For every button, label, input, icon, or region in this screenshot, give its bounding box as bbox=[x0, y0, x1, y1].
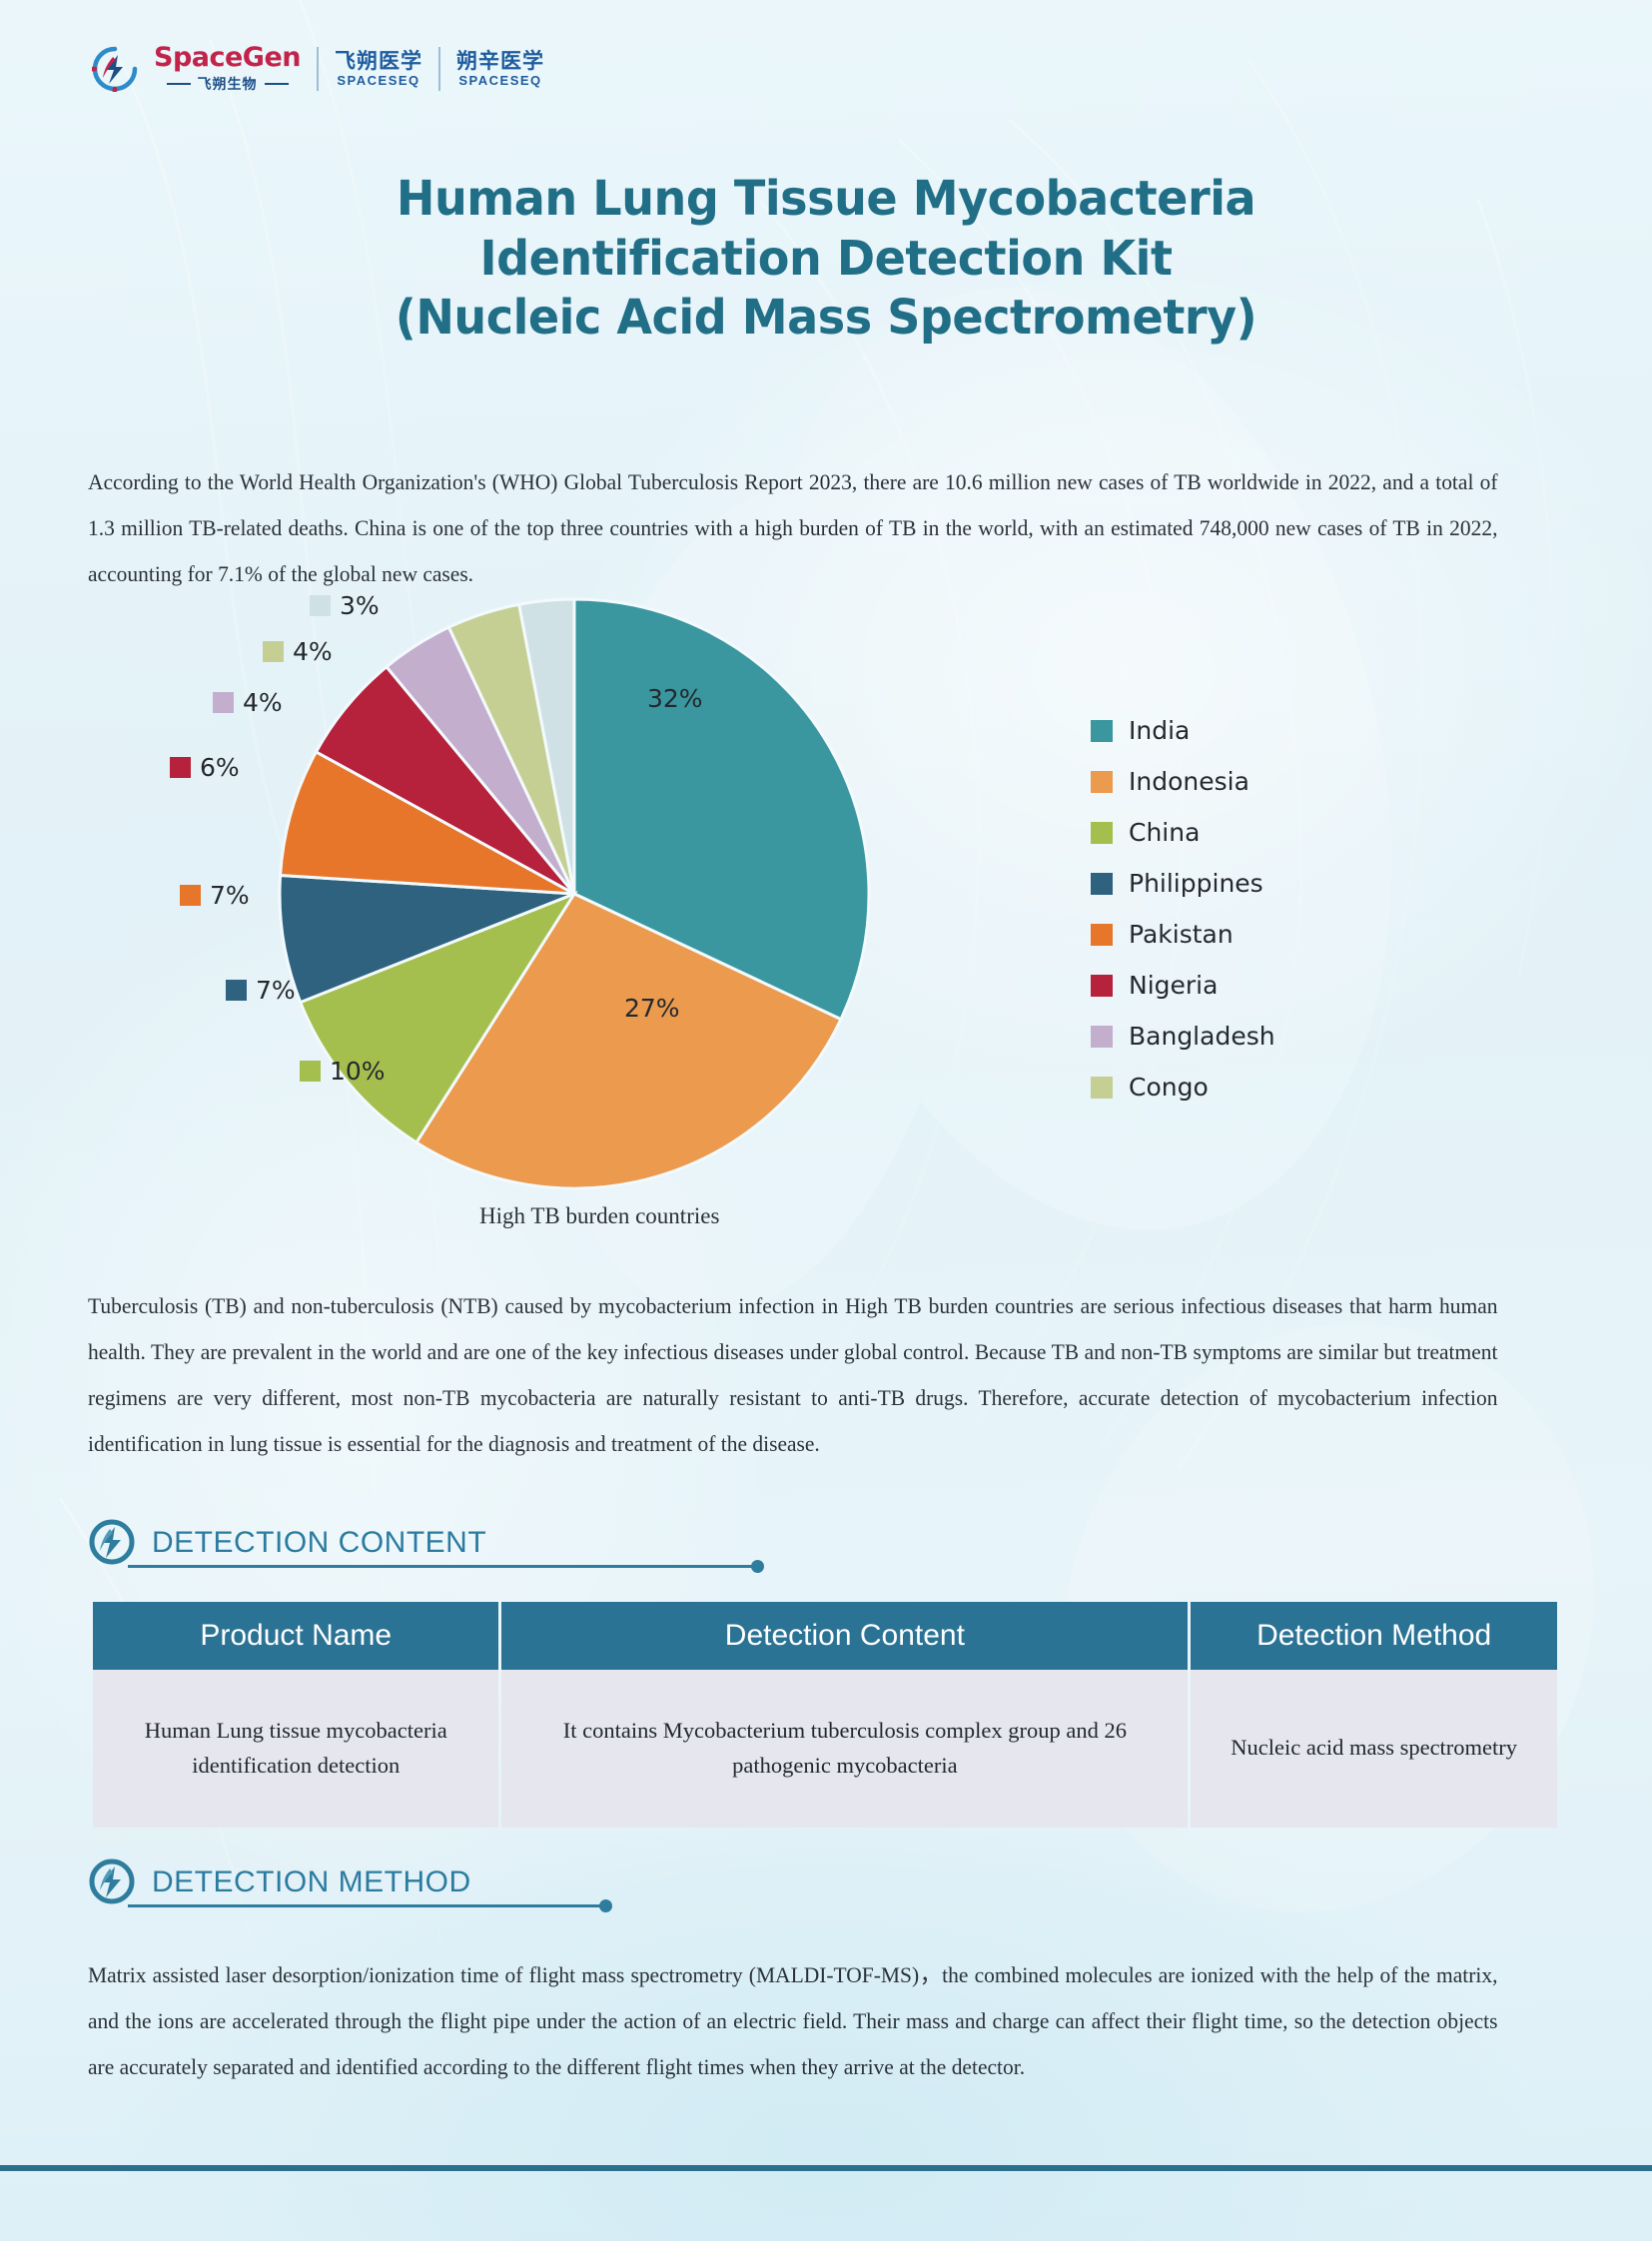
pie-legend: India Indonesia China Philippines Pakist… bbox=[1091, 705, 1275, 1113]
pie-label-pakistan: 7% bbox=[180, 881, 250, 910]
pie-label-nigeria: 6% bbox=[170, 753, 240, 782]
page-title-line-3: (Nucleic Acid Mass Spectrometry) bbox=[33, 289, 1619, 349]
table-header-detection-content: Detection Content bbox=[501, 1602, 1188, 1670]
table-cell-detection-content: It contains Mycobacterium tuberculosis c… bbox=[501, 1670, 1188, 1828]
legend-label: Philippines bbox=[1129, 869, 1263, 898]
legend-swatch bbox=[1091, 771, 1113, 793]
pie-label-text: 6% bbox=[200, 753, 240, 782]
pie-label-china: 10% bbox=[300, 1057, 386, 1086]
legend-item-pakistan: Pakistan bbox=[1091, 909, 1275, 960]
legend-swatch bbox=[1091, 720, 1113, 742]
section-underline bbox=[128, 1565, 757, 1568]
pie-label-swatch bbox=[594, 998, 615, 1019]
spacegen-swirl-logo-icon bbox=[88, 1858, 136, 1905]
legend-label: Bangladesh bbox=[1129, 1022, 1275, 1051]
table-header-row: Product Name Detection Content Detection… bbox=[93, 1602, 1557, 1670]
section-underline-dot bbox=[599, 1899, 612, 1912]
pie-label-congo2: 3% bbox=[310, 591, 380, 620]
legend-swatch bbox=[1091, 822, 1113, 844]
pie-label-bangladesh: 4% bbox=[213, 688, 283, 717]
legend-swatch bbox=[1091, 873, 1113, 895]
section-underline-dot bbox=[751, 1560, 764, 1573]
legend-item-nigeria: Nigeria bbox=[1091, 960, 1275, 1011]
legend-swatch bbox=[1091, 1077, 1113, 1099]
pie-label-philippines: 7% bbox=[226, 976, 296, 1005]
table-cell-product-name: Human Lung tissue mycobacteria identific… bbox=[93, 1670, 498, 1828]
pie-label-swatch bbox=[300, 1061, 321, 1082]
sub-brand-2-cn: 朔辛医学 bbox=[456, 50, 544, 72]
pie-label-swatch bbox=[310, 595, 331, 616]
spacegen-swirl-logo-icon bbox=[88, 1518, 136, 1566]
pie-chart: 3% 4% 4% 6% 7% 7% 10% 27% 32% bbox=[88, 594, 1566, 1243]
brand-name-en: SpaceGen bbox=[154, 44, 301, 71]
legend-swatch bbox=[1091, 924, 1113, 946]
brand-name-cn: 飞朔生物 bbox=[198, 74, 258, 94]
method-paragraph: Matrix assisted laser desorption/ionizat… bbox=[88, 1952, 1497, 2090]
brand-name-block: SpaceGen 飞朔生物 bbox=[154, 44, 301, 94]
pie-label-swatch bbox=[263, 641, 284, 662]
section-heading-label: DETECTION METHOD bbox=[152, 1866, 471, 1899]
section-heading-detection-content: DETECTION CONTENT bbox=[88, 1506, 687, 1568]
brand-rule-right bbox=[265, 83, 289, 85]
page-title: Human Lung Tissue Mycobacteria Identific… bbox=[33, 170, 1619, 349]
chart-caption: High TB burden countries bbox=[479, 1203, 719, 1229]
pie-plot-area bbox=[238, 594, 937, 1193]
legend-label: Pakistan bbox=[1129, 920, 1234, 949]
table-row: Human Lung tissue mycobacteria identific… bbox=[93, 1670, 1557, 1828]
legend-label: Congo bbox=[1129, 1073, 1209, 1102]
footer-rule bbox=[0, 2165, 1652, 2171]
pie-label-text: 3% bbox=[340, 591, 380, 620]
sub-brand-1-en: SPACESEQ bbox=[337, 74, 419, 88]
table-header-detection-method: Detection Method bbox=[1191, 1602, 1557, 1670]
table-cell-detection-method: Nucleic acid mass spectrometry bbox=[1191, 1670, 1557, 1828]
pie-label-indonesia: 27% bbox=[594, 994, 680, 1023]
legend-item-china: China bbox=[1091, 807, 1275, 858]
pie-label-swatch bbox=[180, 885, 201, 906]
legend-item-india: India bbox=[1091, 705, 1275, 756]
pie-label-swatch bbox=[170, 757, 191, 778]
pie-label-text: 7% bbox=[210, 881, 250, 910]
body-paragraph: Tuberculosis (TB) and non-tuberculosis (… bbox=[88, 1283, 1497, 1468]
pie-label-text: 4% bbox=[293, 637, 333, 666]
brand-rule-left bbox=[167, 83, 191, 85]
pie-label-text: 4% bbox=[243, 688, 283, 717]
sub-brand-1: 飞朔医学 SPACESEQ bbox=[335, 50, 422, 88]
pie-label-text: 10% bbox=[330, 1057, 386, 1086]
legend-label: Indonesia bbox=[1129, 767, 1249, 796]
pie-label-text: 32% bbox=[647, 684, 703, 713]
pie-label-text: 27% bbox=[624, 994, 680, 1023]
legend-item-congo: Congo bbox=[1091, 1062, 1275, 1113]
spacegen-swirl-logo-icon bbox=[92, 46, 138, 92]
legend-label: India bbox=[1129, 716, 1190, 745]
pie-label-swatch bbox=[226, 980, 247, 1001]
pie-label-text: 7% bbox=[256, 976, 296, 1005]
pie-label-swatch bbox=[213, 692, 234, 713]
pie-label-swatch bbox=[617, 688, 638, 709]
brand-divider-1 bbox=[317, 47, 319, 91]
intro-paragraph: According to the World Health Organizati… bbox=[88, 459, 1497, 597]
pie-label-congo: 4% bbox=[263, 637, 333, 666]
legend-label: Nigeria bbox=[1129, 971, 1218, 1000]
sub-brand-2: 朔辛医学 SPACESEQ bbox=[456, 50, 544, 88]
legend-item-philippines: Philippines bbox=[1091, 858, 1275, 909]
pie-label-india: 32% bbox=[617, 684, 703, 713]
legend-swatch bbox=[1091, 1026, 1113, 1048]
page-title-line-1: Human Lung Tissue Mycobacteria bbox=[33, 170, 1619, 230]
brand-divider-2 bbox=[438, 47, 440, 91]
section-underline bbox=[128, 1904, 605, 1907]
table-header-product-name: Product Name bbox=[93, 1602, 498, 1670]
detection-content-table: Product Name Detection Content Detection… bbox=[90, 1602, 1560, 1828]
legend-item-bangladesh: Bangladesh bbox=[1091, 1011, 1275, 1062]
legend-label: China bbox=[1129, 818, 1200, 847]
section-heading-detection-method: DETECTION METHOD bbox=[88, 1846, 687, 1907]
sub-brand-1-cn: 飞朔医学 bbox=[335, 50, 422, 72]
pie-slices bbox=[280, 599, 869, 1188]
legend-item-indonesia: Indonesia bbox=[1091, 756, 1275, 807]
legend-swatch bbox=[1091, 975, 1113, 997]
brand-logo-bar: SpaceGen 飞朔生物 飞朔医学 SPACESEQ 朔辛医学 SPACESE… bbox=[92, 44, 544, 94]
section-heading-label: DETECTION CONTENT bbox=[152, 1526, 486, 1560]
page-title-line-2: Identification Detection Kit bbox=[33, 230, 1619, 290]
sub-brand-2-en: SPACESEQ bbox=[458, 74, 541, 88]
pie-svg bbox=[238, 594, 937, 1193]
